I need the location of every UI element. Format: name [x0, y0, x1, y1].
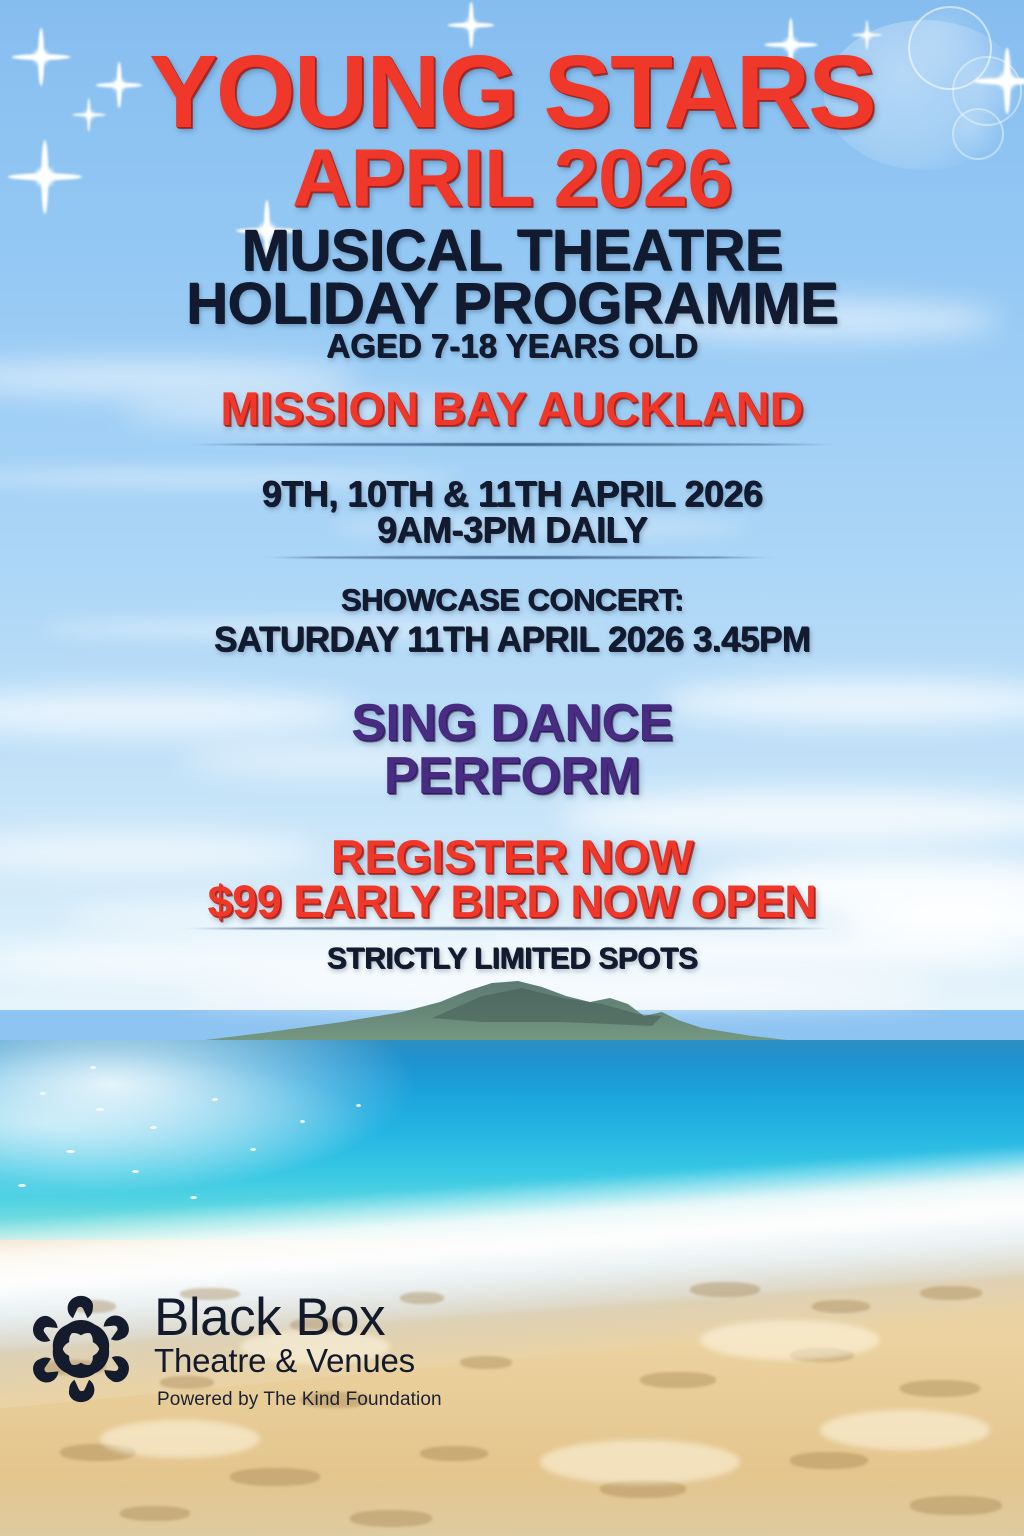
poster-availability: STRICTLY LIMITED SPOTS	[0, 944, 1024, 974]
divider-above-showcase	[262, 556, 777, 559]
poster-title-line2: APRIL 2026	[0, 138, 1024, 220]
poster-location: MISSION BAY AUCKLAND	[0, 385, 1024, 432]
divider-under-location	[185, 443, 840, 446]
logo-brand-name: Black Box	[154, 1292, 442, 1343]
poster-subtitle-line2: HOLIDAY PROGRAMME	[0, 275, 1024, 333]
poster-cta-early-bird: $99 EARLY BIRD NOW OPEN	[0, 879, 1024, 924]
poster-showcase-date: SATURDAY 11TH APRIL 2026 3.45PM	[0, 622, 1024, 657]
radial-mandala-logo-icon	[22, 1290, 140, 1408]
poster-times: 9AM-3PM DAILY	[0, 512, 1024, 548]
poster-age-range: AGED 7-18 YEARS OLD	[0, 329, 1024, 362]
poster-cta-register: REGISTER NOW	[0, 833, 1024, 880]
poster-activity-line1: SING DANCE	[0, 697, 1024, 749]
poster-canvas: YOUNG STARS APRIL 2026 MUSICAL THEATRE H…	[0, 0, 1024, 1536]
logo-tagline: Theatre & Venues	[154, 1343, 442, 1380]
poster-title-line1: YOUNG STARS	[0, 40, 1024, 143]
brand-logo: Black Box Theatre & Venues Powered by Th…	[22, 1288, 442, 1411]
poster-activity-line2: PERFORM	[0, 750, 1024, 802]
logo-wordmark: Black Box Theatre & Venues Powered by Th…	[154, 1288, 442, 1411]
poster-showcase-label: SHOWCASE CONCERT:	[0, 584, 1024, 615]
poster-dates: 9TH, 10TH & 11TH APRIL 2026	[0, 476, 1024, 512]
logo-powered-by: Powered by The Kind Foundation	[157, 1389, 442, 1411]
divider-above-availability	[180, 927, 840, 930]
